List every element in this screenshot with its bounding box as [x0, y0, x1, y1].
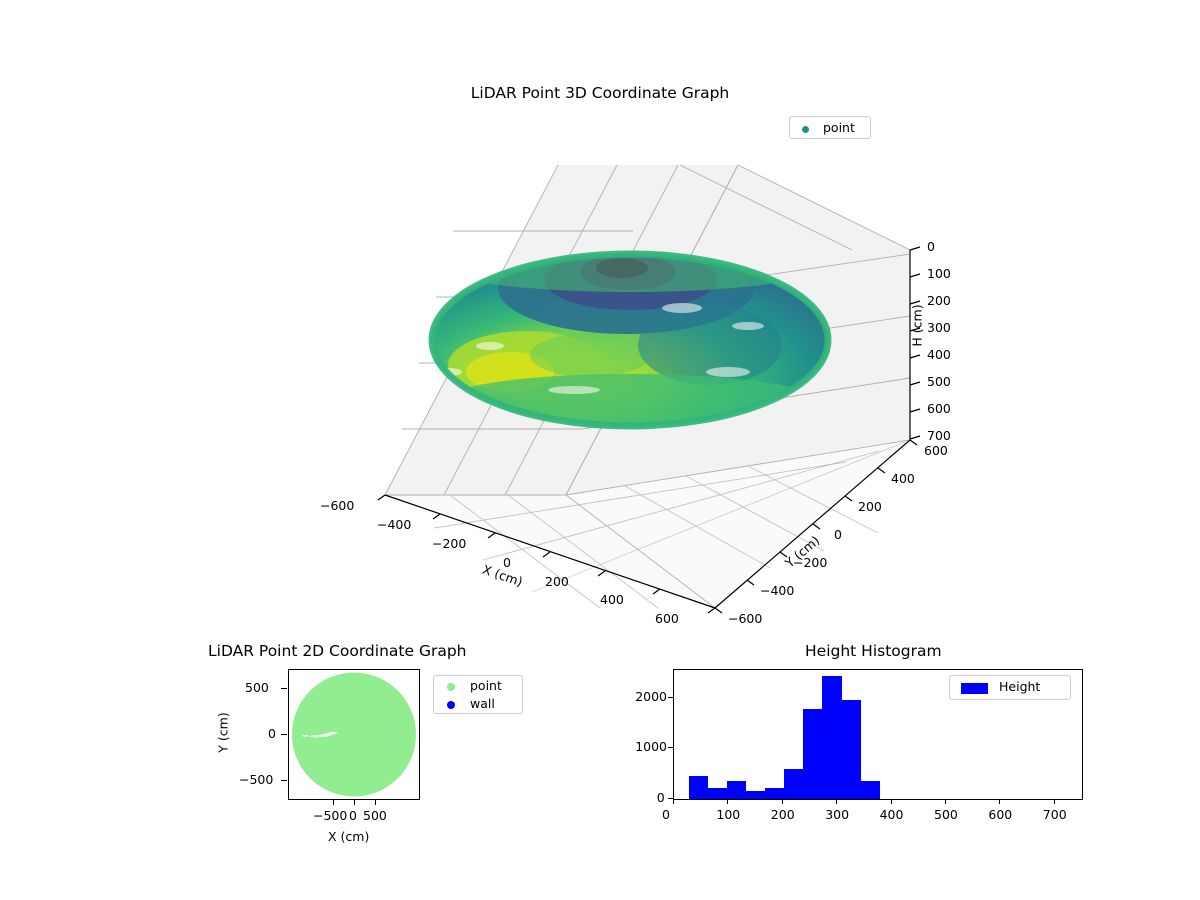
histogram-xtick-mark: [673, 799, 674, 804]
plot3d-ztick-4: 400: [927, 347, 951, 362]
histogram-bar: [765, 788, 785, 799]
plot2d-ytick-0: 500: [245, 680, 269, 695]
histogram-ytick-mark: [668, 697, 673, 698]
plot2d-ytick-mark-2: [281, 780, 287, 781]
plot3d-ytick-3: 0: [834, 527, 842, 542]
plot3d-xtick-0: −600: [320, 498, 354, 513]
point-marker-icon: [447, 683, 455, 691]
histogram-bar: [689, 776, 709, 799]
histogram-xtick-label: 300: [825, 807, 849, 822]
figure-canvas: LiDAR Point 3D Coordinate Graph point: [0, 0, 1200, 900]
histogram-legend: Height: [949, 675, 1071, 700]
plot2d-xtick-mark-2: [375, 799, 376, 805]
histogram-title: Height Histogram: [805, 642, 942, 660]
histogram-bar: [727, 781, 747, 799]
plot2d-legend-label-wall: wall: [470, 696, 495, 711]
histogram-ytick-label: 2000: [635, 689, 667, 704]
plot3d-ztick-5: 500: [927, 374, 951, 389]
plot3d-xtick-4: 200: [545, 574, 569, 589]
plot3d-axes[interactable]: −600 −400 −200 0 200 400 600 −600 −400 −…: [330, 140, 950, 620]
plot2d-xtick-0: −500: [313, 808, 347, 823]
histogram-xtick-label: 100: [716, 807, 740, 822]
histogram-ytick-mark: [668, 747, 673, 748]
histogram-ytick-label: 0: [657, 790, 665, 805]
plot3d-ytick-4: 200: [858, 499, 882, 514]
histogram-xtick-mark: [1054, 799, 1055, 804]
histogram-bar: [746, 791, 766, 799]
histogram-xtick-label: 500: [934, 807, 958, 822]
plot3d-legend: point: [789, 116, 871, 139]
plot2d-legend-row-point: point: [434, 677, 522, 696]
point-cloud-disk: [292, 673, 416, 797]
plot3d-canvas: [330, 140, 950, 620]
plot3d-ytick-1: −400: [760, 583, 794, 598]
plot2d-xtick-2: 500: [363, 808, 387, 823]
histogram-xtick-mark: [836, 799, 837, 804]
histogram-legend-label: Height: [999, 679, 1040, 694]
plot3d-title: LiDAR Point 3D Coordinate Graph: [0, 84, 1200, 102]
histogram-xtick-label: 200: [771, 807, 795, 822]
height-swatch-icon: [961, 683, 988, 694]
histogram-xtick-mark: [891, 799, 892, 804]
plot3d-ztick-3: 300: [927, 320, 951, 335]
histogram-xtick-mark: [945, 799, 946, 804]
histogram-bar: [841, 700, 861, 799]
plot2d-legend-label-point: point: [470, 678, 502, 693]
plot2d-panel: LiDAR Point 2D Coordinate Graph 500 0 −5…: [150, 630, 570, 880]
histogram-bar: [860, 781, 880, 799]
point-marker-icon: [802, 126, 809, 133]
plot3d-ytick-5: 400: [891, 471, 915, 486]
plot2d-xaxis-label: X (cm): [328, 829, 369, 844]
plot2d-ytick-mark-1: [281, 734, 287, 735]
histogram-xtick-mark: [782, 799, 783, 804]
plot2d-ytick-2: −500: [239, 772, 273, 787]
histogram-panel: Height Histogram Height 0100200300400500…: [620, 630, 1120, 880]
histogram-bar: [708, 788, 728, 799]
histogram-xtick-label: 700: [1043, 807, 1067, 822]
histogram-bar: [784, 769, 804, 799]
plot3d-xtick-5: 400: [600, 592, 624, 607]
plot2d-title: LiDAR Point 2D Coordinate Graph: [208, 642, 466, 660]
histogram-xtick-mark: [727, 799, 728, 804]
plot2d-xtick-mark-0: [333, 799, 334, 805]
plot3d-xtick-2: −200: [432, 536, 466, 551]
histogram-ytick-mark: [668, 798, 673, 799]
histogram-xtick-label: 600: [988, 807, 1012, 822]
plot3d-ztick-1: 100: [927, 266, 951, 281]
histogram-bar: [822, 676, 842, 799]
plot2d-canvas: [289, 670, 419, 799]
plot3d-zaxis-label: H (cm): [910, 304, 925, 346]
histogram-xtick-mark: [999, 799, 1000, 804]
plot3d-legend-label: point: [823, 120, 855, 135]
plot3d-ztick-2: 200: [927, 293, 951, 308]
plot3d-ztick-0: 0: [927, 239, 935, 254]
plot2d-ytick-mark-0: [281, 688, 287, 689]
plot3d-xtick-1: −400: [377, 517, 411, 532]
histogram-xtick-label: 0: [662, 807, 670, 822]
histogram-bar: [803, 709, 823, 799]
plot3d-ztick-6: 600: [927, 401, 951, 416]
plot2d-legend: point wall: [433, 675, 523, 714]
plot3d-xtick-6: 600: [655, 611, 679, 626]
histogram-ytick-label: 1000: [635, 739, 667, 754]
wall-marker-icon: [447, 701, 455, 709]
plot2d-yaxis-label: Y (cm): [216, 712, 231, 752]
plot2d-axes[interactable]: [288, 669, 420, 800]
plot2d-xtick-mark-1: [354, 799, 355, 805]
plot3d-ztick-7: 700: [927, 428, 951, 443]
histogram-xtick-label: 400: [880, 807, 904, 822]
plot2d-legend-row-wall: wall: [434, 695, 522, 714]
plot2d-xtick-1: 0: [349, 808, 357, 823]
plot3d-ytick-0: −600: [728, 611, 762, 626]
plot3d-ytick-6: 600: [924, 443, 948, 458]
plot2d-ytick-1: 0: [268, 726, 276, 741]
